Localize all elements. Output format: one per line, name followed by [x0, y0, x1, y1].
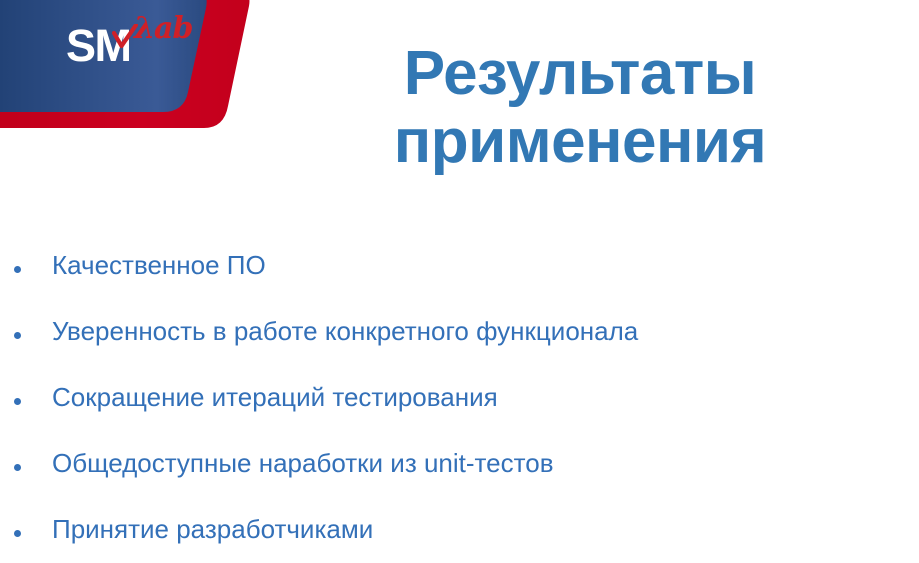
results-bullet-list: Качественное ПО Уверенность в работе кон…: [0, 248, 919, 563]
bullet-point-icon: [14, 266, 21, 273]
list-item-label: Общедоступные наработки из unit-тестов: [52, 446, 554, 480]
list-item: Качественное ПО: [0, 248, 919, 314]
bullet-point-icon: [14, 530, 21, 537]
page-title: Результаты применения: [300, 40, 860, 176]
bullet-point-icon: [14, 332, 21, 339]
list-item: Принятие разработчиками: [0, 512, 919, 563]
logo-wordmark-lab: λab: [134, 14, 192, 44]
list-item-label: Сокращение итераций тестирования: [52, 380, 498, 414]
list-item: Сокращение итераций тестирования: [0, 380, 919, 446]
list-item: Уверенность в работе конкретного функцио…: [0, 314, 919, 380]
brand-logo: SM λab: [0, 0, 230, 115]
bullet-point-icon: [14, 398, 21, 405]
bullet-point-icon: [14, 464, 21, 471]
list-item-label: Качественное ПО: [52, 248, 266, 282]
slide-canvas: SM λab Результаты применения Качественно…: [0, 0, 919, 563]
list-item: Общедоступные наработки из unit-тестов: [0, 446, 919, 512]
list-item-label: Принятие разработчиками: [52, 512, 373, 546]
list-item-label: Уверенность в работе конкретного функцио…: [52, 314, 638, 348]
